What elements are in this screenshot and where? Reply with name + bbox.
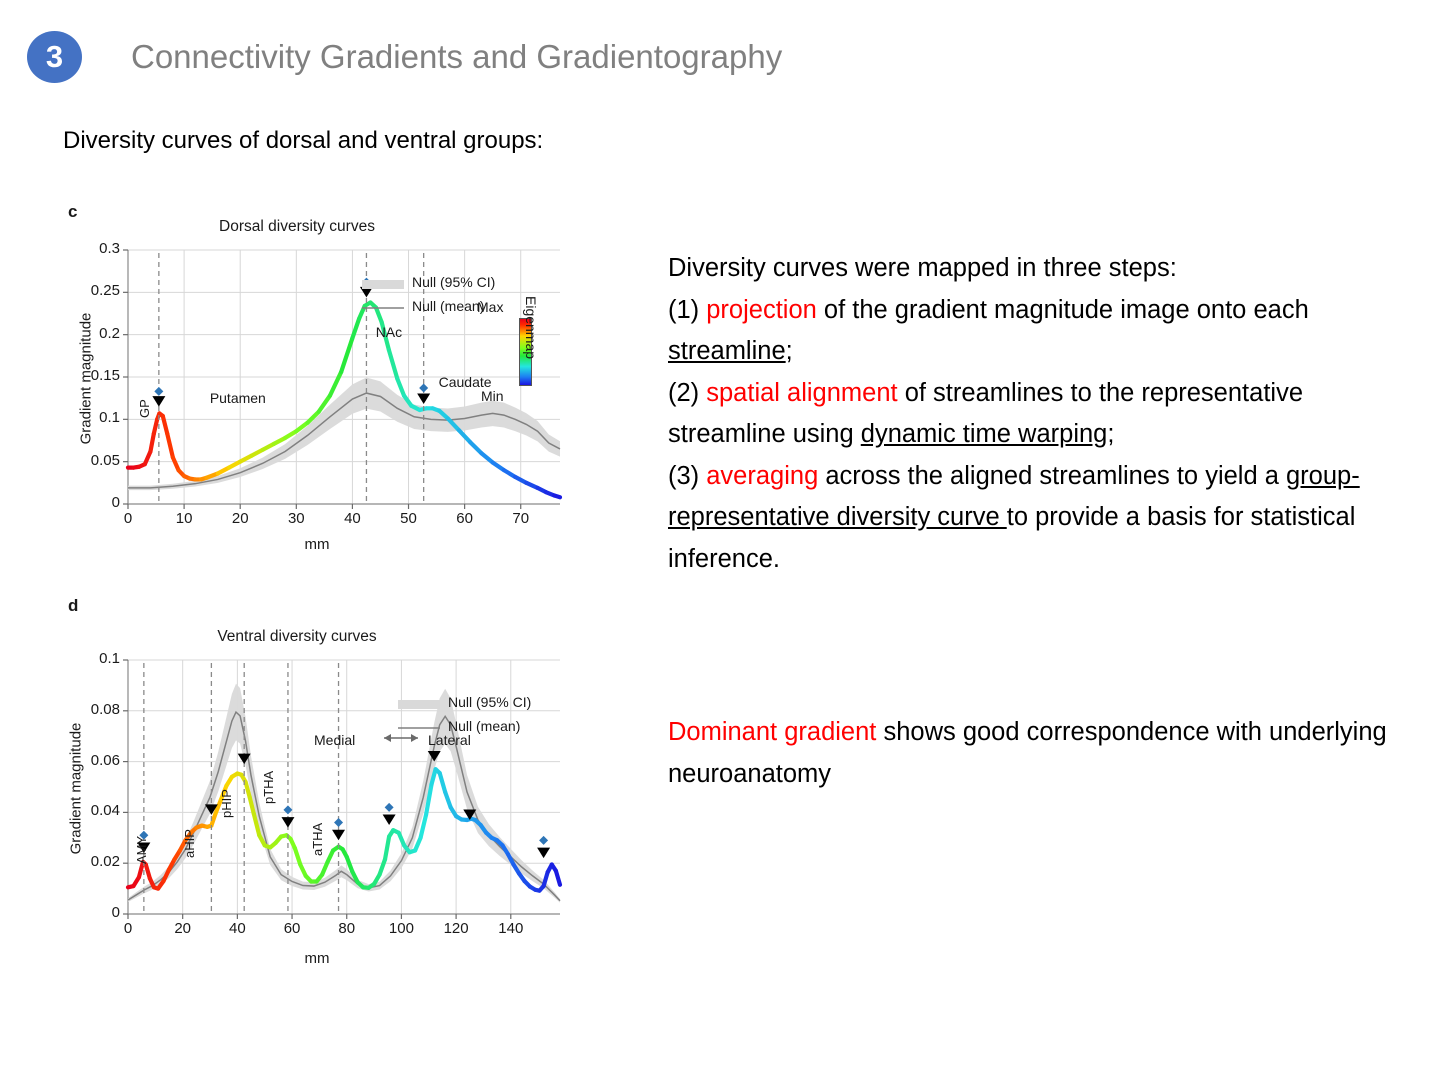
region-annotation-label: Putamen <box>210 390 266 406</box>
step2-suffix: ; <box>1107 420 1114 448</box>
y-tick-label: 0.02 <box>62 853 120 870</box>
x-tick-label: 20 <box>220 510 260 527</box>
x-tick-label: 80 <box>327 920 367 937</box>
step3-highlight: averaging <box>706 462 818 490</box>
x-tick-label: 120 <box>436 920 476 937</box>
figure-panel: c Dorsal diversity curves Gradient magni… <box>62 196 592 996</box>
chart-c-plot <box>62 232 592 542</box>
x-tick-label: 10 <box>164 510 204 527</box>
step1-mid: of the gradient magnitude image onto eac… <box>817 296 1309 324</box>
y-tick-label: 0.2 <box>62 325 120 342</box>
colorbar-title: Eigenmap <box>523 296 539 359</box>
step3-mid: across the aligned streamlines to yield … <box>818 462 1286 490</box>
panel-letter-d: d <box>68 596 78 616</box>
conclusion-text-block: Dominant gradient shows good corresponde… <box>668 712 1388 795</box>
x-tick-label: 0 <box>108 920 148 937</box>
y-tick-label: 0 <box>62 904 120 921</box>
x-tick-label: 60 <box>272 920 312 937</box>
x-tick-label: 20 <box>163 920 203 937</box>
region-annotation-label: pTHA <box>261 771 276 804</box>
region-annotation-label: NAc <box>376 324 402 340</box>
x-axis-label: mm <box>167 950 467 967</box>
y-tick-label: 0.04 <box>62 802 120 819</box>
region-annotation-label: AMY <box>134 836 149 864</box>
step-number-badge: 3 <box>27 31 82 83</box>
region-annotation-label: GP <box>137 399 152 418</box>
x-tick-label: 70 <box>501 510 541 527</box>
y-tick-label: 0.08 <box>62 701 120 718</box>
slide-header: 3 Connectivity Gradients and Gradientogr… <box>0 0 1440 108</box>
colorbar-max-label: Max <box>477 299 503 315</box>
legend-item-label: Null (95% CI) <box>448 694 531 710</box>
step1-prefix: (1) <box>668 296 706 324</box>
y-tick-label: 0 <box>62 494 120 511</box>
x-tick-label: 40 <box>217 920 257 937</box>
step1-suffix: ; <box>786 337 793 365</box>
legend-item-label: Null (mean) <box>412 298 484 314</box>
y-tick-label: 0.06 <box>62 752 120 769</box>
y-tick-label: 0.1 <box>62 409 120 426</box>
medial-direction-label: Medial <box>314 732 355 748</box>
region-annotation-label: aTHA <box>310 823 325 856</box>
x-tick-label: 140 <box>491 920 531 937</box>
methods-text-block: Diversity curves were mapped in three st… <box>668 248 1378 580</box>
step3-prefix: (3) <box>668 462 706 490</box>
x-tick-label: 0 <box>108 510 148 527</box>
x-tick-label: 50 <box>389 510 429 527</box>
legend-item-label: Null (95% CI) <box>412 274 495 290</box>
y-tick-label: 0.05 <box>62 452 120 469</box>
y-tick-label: 0.1 <box>62 650 120 667</box>
x-tick-label: 40 <box>332 510 372 527</box>
methods-intro: Diversity curves were mapped in three st… <box>668 254 1177 282</box>
y-tick-label: 0.25 <box>62 282 120 299</box>
step1-underline: streamline <box>668 337 786 365</box>
y-tick-label: 0.15 <box>62 367 120 384</box>
region-annotation-label: aHIP <box>182 829 197 858</box>
y-tick-label: 0.3 <box>62 240 120 257</box>
x-tick-label: 60 <box>445 510 485 527</box>
chart-dorsal-diversity-curves: Dorsal diversity curves Gradient magnitu… <box>62 218 592 578</box>
step2-underline: dynamic time warping <box>861 420 1108 448</box>
page-title: Connectivity Gradients and Gradientograp… <box>131 38 782 76</box>
lateral-direction-label: Lateral <box>428 732 471 748</box>
x-tick-label: 100 <box>381 920 421 937</box>
colorbar-min-label: Min <box>481 388 504 404</box>
chart-d-plot <box>62 642 592 952</box>
chart-ventral-diversity-curves: Ventral diversity curves Gradient magnit… <box>62 628 592 998</box>
conclusion-highlight: Dominant gradient <box>668 718 876 746</box>
step1-highlight: projection <box>706 296 817 324</box>
region-annotation-label: pHIP <box>219 789 234 818</box>
x-tick-label: 30 <box>276 510 316 527</box>
section-subtitle: Diversity curves of dorsal and ventral g… <box>63 127 543 155</box>
step2-highlight: spatial alignment <box>706 379 897 407</box>
step2-prefix: (2) <box>668 379 706 407</box>
